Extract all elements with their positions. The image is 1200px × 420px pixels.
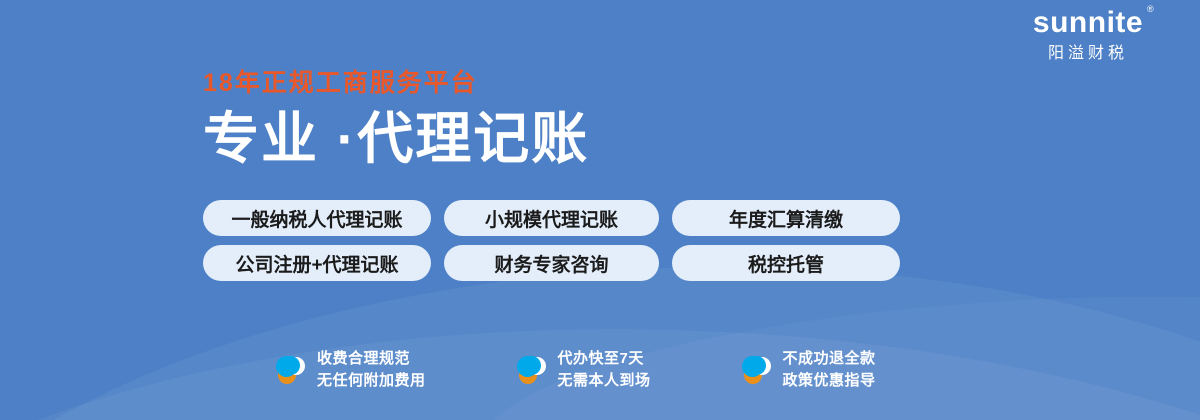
feature-item-pricing: 收费合理规范 无任何附加费用	[275, 348, 426, 392]
logo-wordmark: sunnite ®	[1033, 8, 1143, 38]
feature-item-speed: 代办快至7天 无需本人到场	[516, 348, 651, 392]
bulb-icon	[516, 354, 546, 386]
background-wave-accent	[474, 271, 1200, 420]
service-pill-grid: 一般纳税人代理记账 小规模代理记账 年度汇算清缴 公司注册+代理记账 财务专家咨…	[203, 200, 900, 281]
feature-text-pricing: 收费合理规范 无任何附加费用	[317, 348, 426, 392]
feature-line-1: 代办快至7天	[558, 348, 651, 370]
service-pill-small-scale[interactable]: 小规模代理记账	[444, 200, 659, 236]
feature-text-guarantee: 不成功退全款 政策优惠指导	[783, 348, 876, 392]
tagline: 18年正规工商服务平台	[203, 70, 589, 98]
service-pill-row: 公司注册+代理记账 财务专家咨询 税控托管	[203, 245, 900, 281]
bulb-icon	[741, 354, 771, 386]
registered-trademark-icon: ®	[1147, 5, 1154, 14]
feature-line-2: 无任何附加费用	[317, 370, 426, 392]
service-pill-company-registration[interactable]: 公司注册+代理记账	[203, 245, 431, 281]
feature-line-1: 不成功退全款	[783, 348, 876, 370]
logo-wordmark-text: sunnite	[1033, 6, 1143, 39]
feature-line-2: 政策优惠指导	[783, 370, 876, 392]
service-pill-general-taxpayer[interactable]: 一般纳税人代理记账	[203, 200, 431, 236]
service-pill-annual-settlement[interactable]: 年度汇算清缴	[672, 200, 900, 236]
page-title: 专业 ·代理记账	[203, 108, 589, 171]
service-pill-row: 一般纳税人代理记账 小规模代理记账 年度汇算清缴	[203, 200, 900, 236]
feature-line-2: 无需本人到场	[558, 370, 651, 392]
logo-chinese-name: 阳溢财税	[1004, 46, 1172, 62]
bulb-icon	[275, 354, 305, 386]
brand-logo[interactable]: sunnite ® 阳溢财税	[1004, 8, 1172, 62]
feature-item-guarantee: 不成功退全款 政策优惠指导	[741, 348, 876, 392]
feature-line-1: 收费合理规范	[317, 348, 426, 370]
service-pill-tax-control-hosting[interactable]: 税控托管	[672, 245, 900, 281]
feature-text-speed: 代办快至7天 无需本人到场	[558, 348, 651, 392]
promo-banner: sunnite ® 阳溢财税 18年正规工商服务平台 专业 ·代理记账 一般纳税…	[0, 0, 1200, 420]
headline-block: 18年正规工商服务平台 专业 ·代理记账	[203, 70, 589, 170]
service-pill-expert-consulting[interactable]: 财务专家咨询	[444, 245, 659, 281]
feature-list: 收费合理规范 无任何附加费用 代办快至7天 无需本人到场	[275, 348, 876, 392]
